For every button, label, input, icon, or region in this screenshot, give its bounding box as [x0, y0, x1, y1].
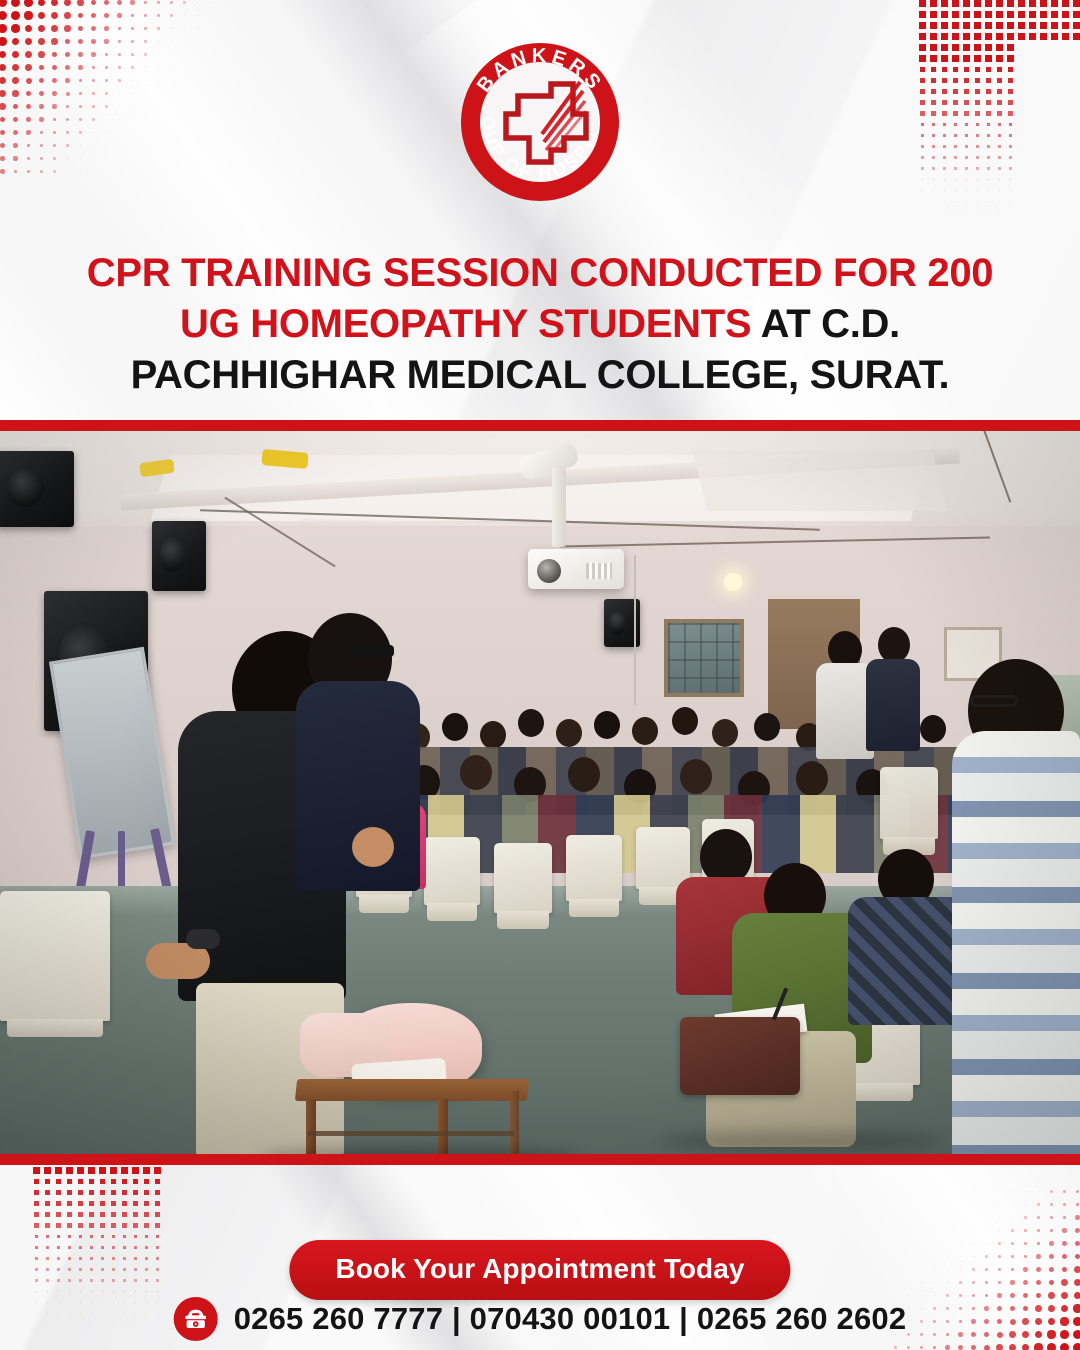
event-photo [0, 431, 1080, 1154]
speaker-icon [0, 451, 74, 527]
decor-halftone-bottom-right [889, 1185, 1080, 1350]
decor-halftone-top-right [917, 0, 1080, 240]
red-rule-top [0, 420, 1080, 431]
projector-icon [528, 549, 624, 589]
phone-numbers[interactable]: 0265 260 7777 | 070430 00101 | 0265 260 … [234, 1301, 907, 1337]
book-appointment-button[interactable]: Book Your Appointment Today [289, 1240, 790, 1300]
shoulder-bag [680, 1017, 800, 1095]
decor-halftone-top-left [0, 0, 230, 178]
telephone-icon [174, 1297, 218, 1341]
photo-section [0, 420, 1080, 1165]
contact-row: 0265 260 7777 | 070430 00101 | 0265 260 … [174, 1297, 907, 1341]
speaker-icon [152, 521, 206, 591]
page-title: CPR TRAINING SESSION CONDUCTED FOR 200 U… [0, 248, 1080, 402]
poster-canvas: BANKERS GROUP OF HOSPITALS CPR TRAINING … [0, 0, 1080, 1350]
red-rule-bottom [0, 1154, 1080, 1165]
brand-logo: BANKERS GROUP OF HOSPITALS [456, 38, 624, 206]
